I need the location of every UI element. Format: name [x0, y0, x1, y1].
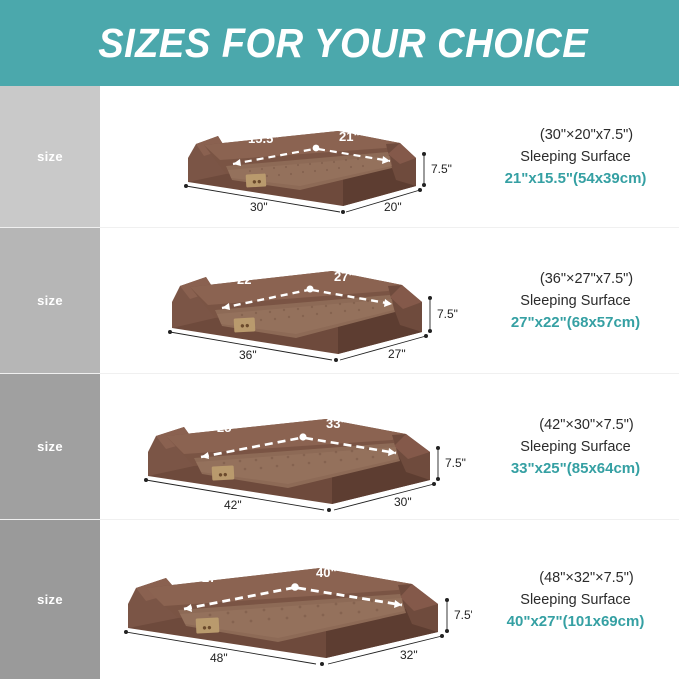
dim-inner-right: 33" — [326, 416, 347, 431]
infographic-page: SIZES FOR YOUR CHOICE size — [0, 0, 679, 679]
svg-text:●●: ●● — [240, 321, 250, 331]
size-label: size — [37, 592, 63, 607]
dim-inner-left: 25" — [217, 420, 238, 435]
size-row: size — [0, 86, 679, 228]
size-row: size — [0, 228, 679, 374]
bed-illustration-cell: ●● 27" 40" — [100, 520, 472, 679]
dim-depth: 30" — [394, 495, 412, 509]
size-text-cell: (48"×32"×7.5") Sleeping Surface 40"x27"(… — [472, 520, 679, 679]
dim-height: 7.5" — [445, 456, 466, 470]
size-row: size — [0, 520, 679, 679]
size-badge-cell: size — [0, 228, 100, 373]
overall-dimensions: (36"×27"x7.5") — [518, 268, 633, 290]
sleeping-surface-label: Sleeping Surface — [520, 436, 630, 458]
bed-diagram: ●● 27" 40" — [100, 520, 472, 679]
size-label: size — [37, 439, 63, 454]
dim-inner-right: 40" — [316, 565, 337, 580]
size-text-cell: (36"×27"x7.5") Sleeping Surface 27"x22"(… — [472, 228, 679, 373]
dim-inner-left: 27" — [202, 570, 223, 585]
bed-illustration-cell: ●● 22" 27" — [100, 228, 472, 373]
bed-diagram: ●● 22" 27" — [100, 228, 472, 374]
dim-depth: 27" — [388, 347, 406, 361]
size-text-cell: (30"×20"x7.5") Sleeping Surface 21"x15.5… — [472, 86, 679, 227]
svg-text:●●: ●● — [252, 177, 262, 187]
dim-inner-left: 15.5" — [248, 131, 279, 146]
size-badge-cell: size — [0, 86, 100, 227]
sleeping-surface-value: 40"x27"(101x69cm) — [507, 611, 645, 633]
size-row: size — [0, 374, 679, 520]
header-banner: SIZES FOR YOUR CHOICE — [0, 0, 679, 86]
size-text-cell: (42"×30"×7.5") Sleeping Surface 33"x25"(… — [472, 374, 679, 519]
overall-dimensions: (30"×20"x7.5") — [518, 124, 633, 146]
dim-inner-right: 27" — [334, 269, 355, 284]
dim-width: 42" — [224, 498, 242, 512]
size-label: size — [37, 293, 63, 308]
overall-dimensions: (48"×32"×7.5") — [517, 567, 633, 589]
bed-diagram: ●● 25" 33" — [100, 374, 472, 520]
dim-width: 36" — [239, 348, 257, 362]
svg-text:●●: ●● — [202, 623, 212, 633]
dim-inner-left: 22" — [237, 272, 258, 287]
dim-width: 48" — [210, 651, 228, 665]
dim-inner-right: 21" — [339, 129, 360, 144]
size-rows: size — [0, 86, 679, 679]
dim-width: 30" — [250, 200, 268, 214]
overall-dimensions: (42"×30"×7.5") — [517, 414, 633, 436]
sleeping-surface-label: Sleeping Surface — [520, 589, 630, 611]
page-title: SIZES FOR YOUR CHOICE — [24, 0, 655, 86]
bed-illustration-cell: ●● 25" 33" — [100, 374, 472, 519]
sleeping-surface-value: 21"x15.5"(54x39cm) — [505, 168, 647, 190]
svg-text:●●: ●● — [218, 470, 228, 480]
bed-illustration-cell: ●● 15.5" 21" — [100, 86, 472, 227]
dim-depth: 20" — [384, 200, 402, 214]
size-label: size — [37, 149, 63, 164]
size-badge-cell: size — [0, 520, 100, 679]
dim-height: 7.5" — [431, 162, 452, 176]
sleeping-surface-label: Sleeping Surface — [520, 146, 630, 168]
dim-depth: 32" — [400, 648, 418, 662]
size-badge-cell: size — [0, 374, 100, 519]
sleeping-surface-value: 27"x22"(68x57cm) — [511, 312, 640, 334]
dim-height: 7.5" — [454, 608, 472, 622]
dim-height: 7.5" — [437, 307, 458, 321]
sleeping-surface-value: 33"x25"(85x64cm) — [511, 458, 640, 480]
bed-diagram: ●● 15.5" 21" — [100, 86, 472, 228]
sleeping-surface-label: Sleeping Surface — [520, 290, 630, 312]
